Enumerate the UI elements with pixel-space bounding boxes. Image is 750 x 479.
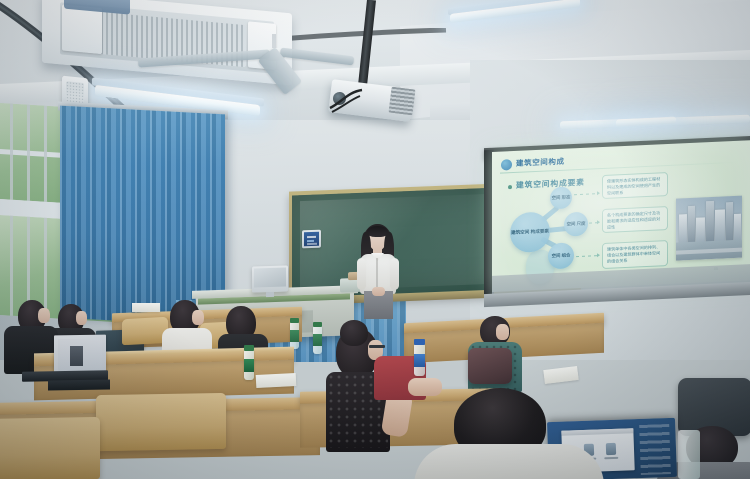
student-row1-c-face [192, 310, 204, 325]
speaker-mesh-icon [66, 81, 84, 103]
bottle-cap [313, 322, 322, 327]
wall-placard [302, 230, 321, 249]
student-left-front-face [38, 308, 50, 323]
file-icon[interactable] [606, 443, 616, 455]
file-label [604, 457, 618, 459]
student-center-red-head [340, 320, 368, 346]
student-center-glasses-icon [369, 345, 385, 348]
foreground-viewer [432, 388, 592, 479]
fan-blade [280, 48, 355, 66]
bottle-cap [414, 339, 425, 345]
presenter-hands [372, 287, 385, 296]
bottle-label [290, 330, 299, 342]
handout-3 [256, 373, 297, 388]
bottle-label [313, 334, 322, 346]
placard-line [307, 240, 314, 242]
ac-vane [62, 4, 102, 54]
handbag-rear [468, 348, 512, 384]
bottle-cap [244, 345, 254, 351]
ceiling-fan [200, 34, 350, 94]
projector-cable [326, 86, 366, 114]
lectern-monitor[interactable] [252, 265, 288, 292]
water-bottle-5 [678, 430, 700, 479]
person-face [496, 324, 509, 340]
presenter-student [352, 224, 404, 316]
placard-face [304, 232, 319, 247]
handout-1 [543, 366, 578, 384]
laptop-trackpad[interactable] [48, 379, 110, 390]
bottle-cap [290, 318, 299, 323]
bottle-label [244, 359, 254, 372]
bottle-label [414, 354, 425, 367]
chair-front-1 [96, 393, 226, 451]
chair-front-2 [0, 417, 100, 479]
handout-2 [132, 303, 160, 312]
laptop-screen-figure [70, 346, 83, 366]
placard-line [307, 236, 316, 238]
monitor-stand [266, 292, 274, 297]
presenter-arm-left [357, 258, 366, 290]
window-security-bars [0, 103, 60, 203]
laptop-sidebar[interactable] [639, 424, 671, 475]
presenter-arm-right [390, 258, 399, 290]
person-shoulders [414, 444, 604, 479]
classroom-photo-scene: 建筑空间构成 建筑空间构成要素 建筑空间 构成要素 空间 形态 空间 尺度 空间… [0, 0, 750, 479]
projector-vent-icon [389, 87, 416, 116]
placard-line [307, 243, 317, 245]
monitor-screen [254, 267, 286, 287]
student-left-mid-face [76, 311, 87, 325]
